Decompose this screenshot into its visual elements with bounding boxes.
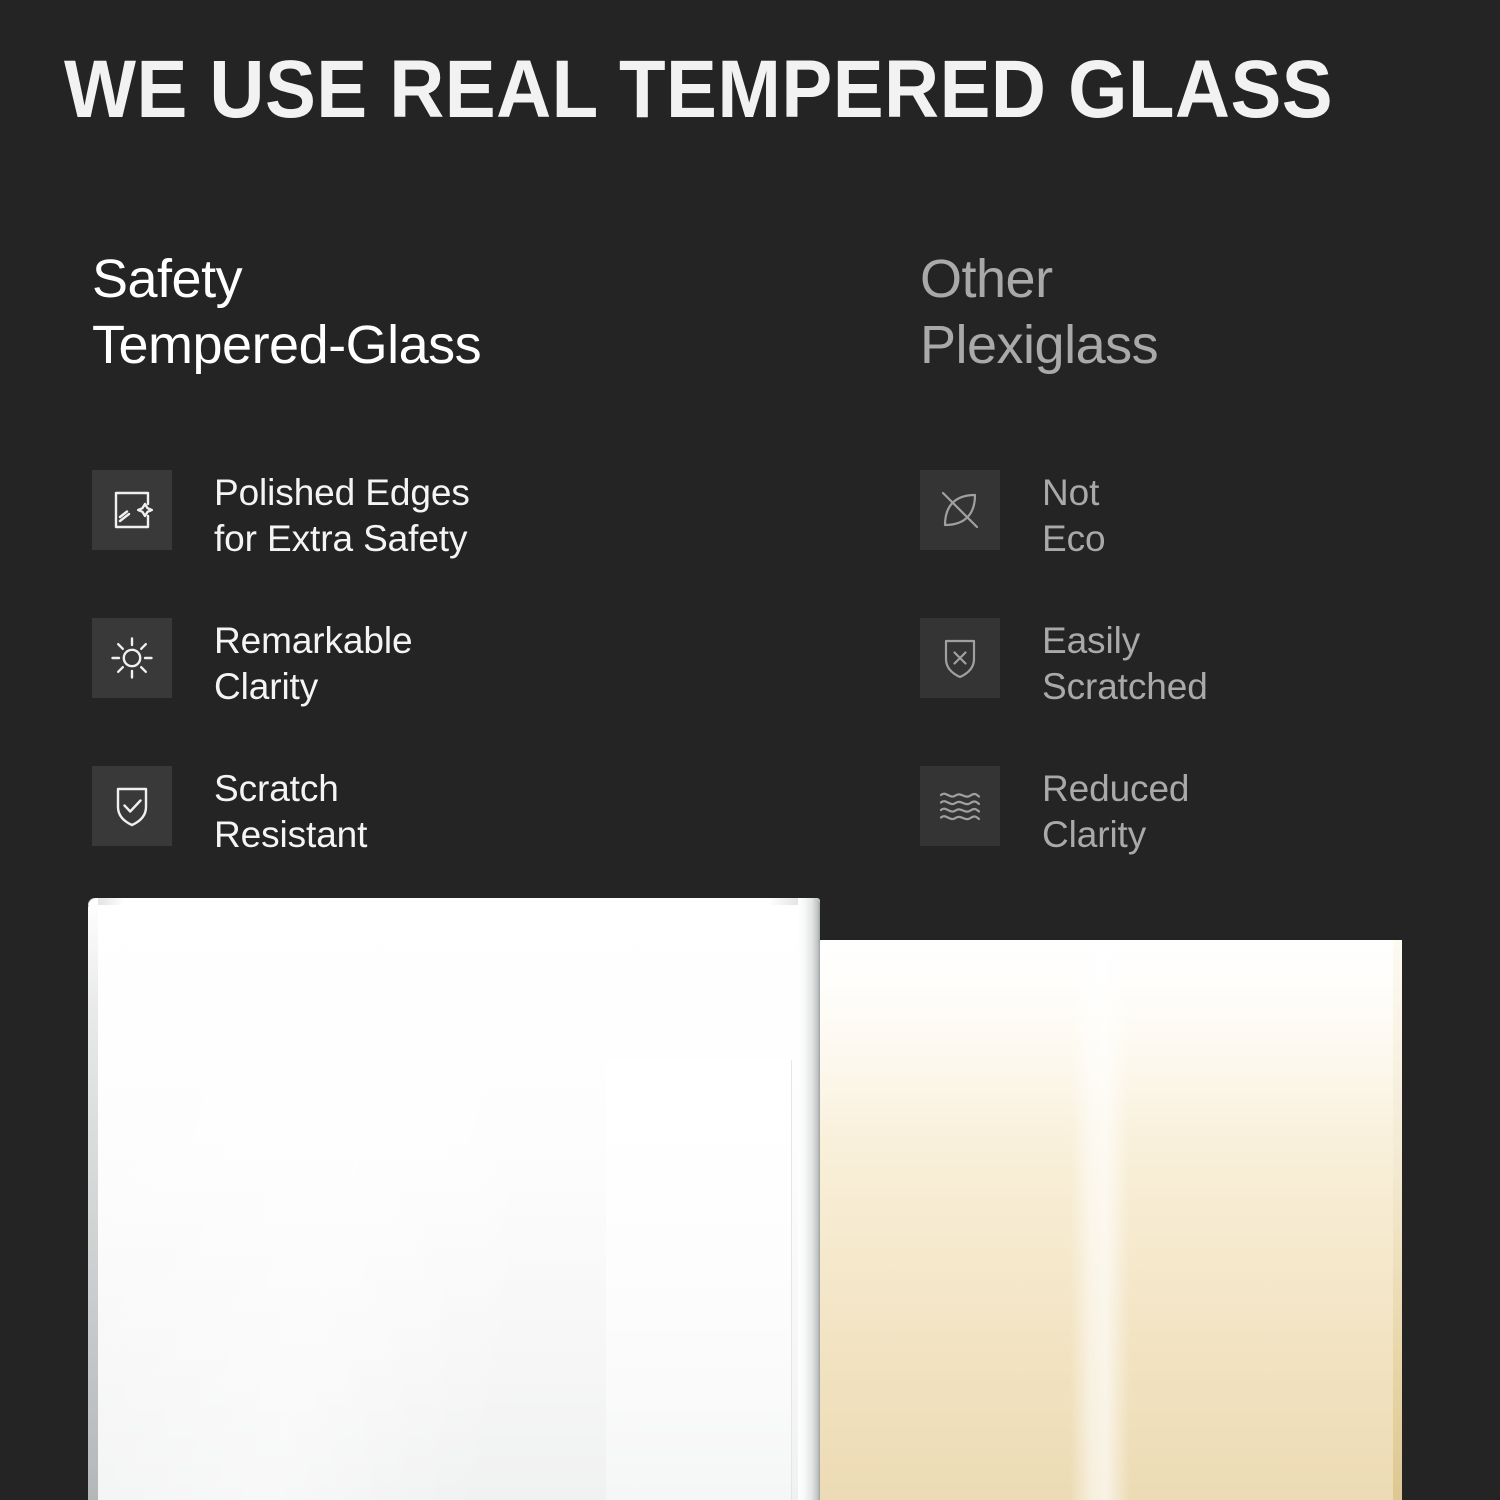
tempered-glass-reflection — [606, 1060, 792, 1500]
column-safety-tempered-glass: Safety Tempered-Glass Polished Edges for… — [92, 246, 792, 378]
plexiglass-vertical-highlight — [1070, 940, 1130, 1500]
column-title-other: Other Plexiglass — [920, 246, 1460, 378]
shield-x-icon — [920, 618, 1000, 698]
page-title: WE USE REAL TEMPERED GLASS — [64, 42, 1357, 138]
feature-row-easily-scratched: Easily Scratched — [920, 616, 1460, 764]
leaf-crossed-out-icon — [920, 470, 1000, 550]
comparison-infographic: WE USE REAL TEMPERED GLASS Safety Temper… — [0, 0, 1500, 1500]
feature-label-easily-scratched: Easily Scratched — [1042, 616, 1208, 710]
feature-label-remarkable-clarity: Remarkable Clarity — [214, 616, 412, 710]
plexiglass-right-edge — [1393, 940, 1402, 1500]
polished-glass-pane-sparkle-icon — [92, 470, 172, 550]
column-title-safety: Safety Tempered-Glass — [92, 246, 792, 378]
product-comparison-images — [0, 880, 1500, 1500]
feature-label-reduced-clarity: Reduced Clarity — [1042, 764, 1189, 858]
sun-brightness-icon — [92, 618, 172, 698]
tempered-glass-panel — [88, 898, 820, 1500]
feature-label-scratch-resistant: Scratch Resistant — [214, 764, 367, 858]
feature-label-polished-edges: Polished Edges for Extra Safety — [214, 468, 470, 562]
feature-row-not-eco: Not Eco — [920, 468, 1460, 616]
wavy-lines-blur-icon — [920, 766, 1000, 846]
tempered-glass-left-edge — [88, 898, 98, 1500]
feature-label-not-eco: Not Eco — [1042, 468, 1105, 562]
shield-check-icon — [92, 766, 172, 846]
tempered-glass-right-edge — [798, 898, 820, 1500]
feature-list-plexiglass: Not Eco Easily Scratched — [920, 468, 1460, 912]
column-other-plexiglass: Other Plexiglass Not Eco — [920, 246, 1460, 378]
feature-row-polished-edges: Polished Edges for Extra Safety — [92, 468, 792, 616]
plexiglass-panel — [820, 940, 1402, 1500]
tempered-glass-top-edge — [88, 898, 820, 905]
feature-row-remarkable-clarity: Remarkable Clarity — [92, 616, 792, 764]
feature-list-safety: Polished Edges for Extra Safety Remarkab… — [92, 468, 792, 912]
